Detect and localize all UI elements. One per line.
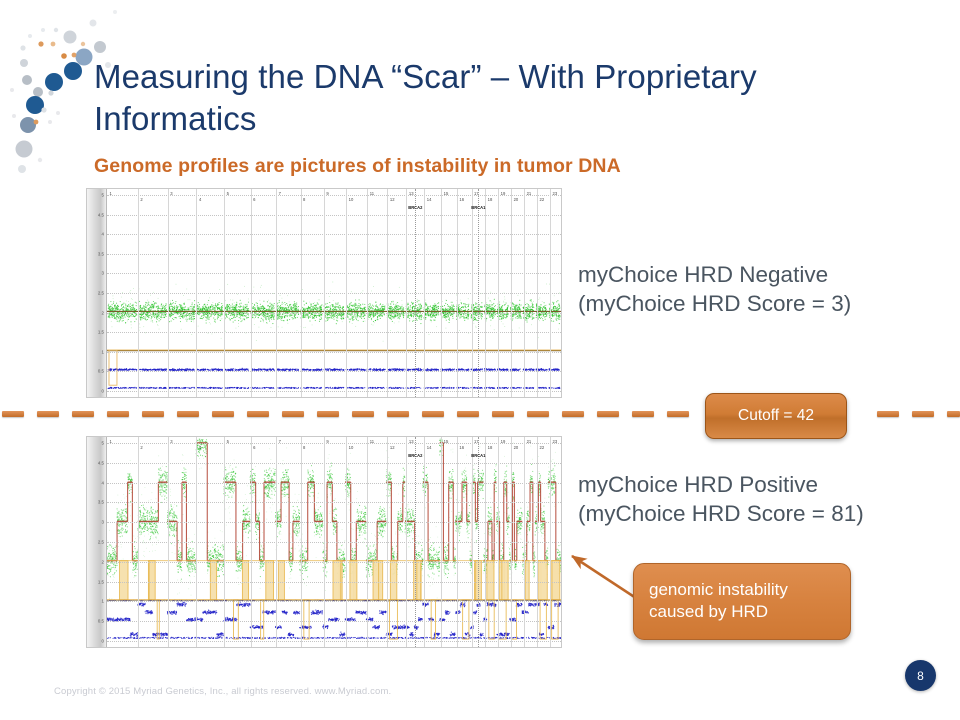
cutoff-badge[interactable]: Cutoff = 42 bbox=[705, 393, 847, 439]
y-axis-tick: 1 bbox=[102, 599, 104, 604]
gridline-chromosome-boundary bbox=[498, 189, 499, 397]
gridline-horizontal bbox=[107, 443, 561, 444]
gridline-chromosome-boundary bbox=[301, 437, 302, 647]
gridline-horizontal bbox=[107, 483, 561, 484]
y-axis-bottom: 54.543.532.521.510.50 bbox=[87, 437, 106, 647]
y-axis-top: 54.543.532.521.510.50 bbox=[87, 189, 106, 397]
chromosome-label: 19 bbox=[501, 191, 506, 196]
y-axis-tick: 5 bbox=[102, 193, 104, 198]
gridline-chromosome-boundary bbox=[224, 189, 225, 397]
gridline-chromosome-boundary bbox=[168, 437, 169, 647]
chromosome-label: 12 bbox=[390, 445, 395, 450]
cutoff-dash bbox=[492, 411, 514, 417]
y-axis-tick: 0.5 bbox=[98, 619, 104, 624]
cutoff-dash bbox=[667, 411, 689, 417]
cutoff-dash bbox=[912, 411, 934, 417]
chromosome-label: 1 bbox=[110, 439, 112, 444]
page-number-label: 8 bbox=[917, 669, 924, 683]
plot-area-top: 1234567891011121314151617181920212223BRC… bbox=[107, 189, 561, 397]
gridline-chromosome-boundary bbox=[524, 189, 525, 397]
cutoff-dash bbox=[597, 411, 619, 417]
y-axis-tick: 0 bbox=[102, 639, 104, 644]
chromosome-label: 1 bbox=[110, 191, 112, 196]
gridline-chromosome-boundary bbox=[251, 437, 252, 647]
caption-hrd-positive-line2: (myChoice HRD Score = 81) bbox=[578, 499, 938, 528]
chromosome-label: 13 bbox=[409, 191, 414, 196]
gridline-chromosome-boundary bbox=[537, 437, 538, 647]
cutoff-dash bbox=[212, 411, 234, 417]
slide: Measuring the DNA “Scar” – With Propriet… bbox=[0, 0, 960, 720]
brca-marker-line bbox=[478, 189, 479, 397]
brca-gene-label: BRCA2 bbox=[408, 453, 422, 458]
chromosome-label: 7 bbox=[279, 439, 281, 444]
gridline-chromosome-boundary bbox=[485, 437, 486, 647]
gridline-chromosome-boundary bbox=[224, 437, 225, 647]
gridline-chromosome-boundary bbox=[457, 189, 458, 397]
chromosome-label: 2 bbox=[140, 445, 142, 450]
gridline-chromosome-boundary bbox=[276, 189, 277, 397]
y-axis-tick: 5 bbox=[102, 441, 104, 446]
gridline-horizontal bbox=[107, 371, 561, 372]
callout-line1: genomic instability bbox=[649, 579, 850, 601]
y-axis-tick: 4.5 bbox=[98, 212, 104, 217]
y-axis-tick: 3.5 bbox=[98, 500, 104, 505]
copyright-footer: Copyright © 2015 Myriad Genetics, Inc., … bbox=[54, 686, 391, 697]
gridline-horizontal bbox=[107, 332, 561, 333]
cutoff-dash bbox=[72, 411, 94, 417]
cutoff-dash bbox=[562, 411, 584, 417]
gridline-chromosome-boundary bbox=[196, 189, 197, 397]
page-number-badge: 8 bbox=[905, 660, 936, 691]
gridline-chromosome-boundary bbox=[524, 437, 525, 647]
y-axis-tick: 4 bbox=[102, 232, 104, 237]
y-axis-tick: 2.5 bbox=[98, 540, 104, 545]
chromosome-label: 6 bbox=[253, 197, 255, 202]
chromosome-label: 12 bbox=[390, 197, 395, 202]
y-axis-tick: 4 bbox=[102, 480, 104, 485]
gridline-chromosome-boundary bbox=[537, 189, 538, 397]
gridline-chromosome-boundary bbox=[387, 437, 388, 647]
gridline-chromosome-boundary bbox=[424, 437, 425, 647]
chromosome-label: 20 bbox=[514, 197, 519, 202]
chromosome-label: 14 bbox=[427, 197, 432, 202]
y-axis-tick: 3.5 bbox=[98, 251, 104, 256]
gridline-chromosome-boundary bbox=[301, 189, 302, 397]
cutoff-dash bbox=[282, 411, 304, 417]
gridline-chromosome-boundary bbox=[276, 437, 277, 647]
gridline-chromosome-boundary bbox=[511, 437, 512, 647]
gridline-chromosome-boundary bbox=[550, 189, 551, 397]
gridline-horizontal bbox=[107, 254, 561, 255]
chromosome-label: 22 bbox=[540, 445, 545, 450]
gridline-chromosome-boundary bbox=[196, 437, 197, 647]
gridline-chromosome-boundary bbox=[168, 189, 169, 397]
chromosome-label: 20 bbox=[514, 445, 519, 450]
genome-profile-hrd-negative: 54.543.532.521.510.50 123456789101112131… bbox=[86, 188, 562, 398]
gridline-chromosome-boundary bbox=[485, 189, 486, 397]
chromosome-label: 8 bbox=[303, 445, 305, 450]
gridline-horizontal bbox=[107, 313, 561, 314]
chromosome-label: 19 bbox=[501, 439, 506, 444]
cutoff-dash bbox=[947, 411, 960, 417]
gridline-chromosome-boundary bbox=[324, 189, 325, 397]
chromosome-label: 14 bbox=[427, 445, 432, 450]
cutoff-dash bbox=[527, 411, 549, 417]
gridline-chromosome-boundary bbox=[511, 189, 512, 397]
y-axis-tick: 1.5 bbox=[98, 330, 104, 335]
gridline-chromosome-boundary bbox=[424, 189, 425, 397]
cutoff-dash bbox=[107, 411, 129, 417]
chromosome-label: 21 bbox=[527, 439, 532, 444]
caption-hrd-negative-line1: myChoice HRD Negative bbox=[578, 260, 938, 289]
gridline-chromosome-boundary bbox=[324, 437, 325, 647]
gridline-horizontal bbox=[107, 234, 561, 235]
chromosome-label: 16 bbox=[459, 445, 464, 450]
gridline-horizontal bbox=[107, 562, 561, 563]
gridline-horizontal bbox=[107, 601, 561, 602]
chromosome-label: 15 bbox=[444, 439, 449, 444]
chromosome-label: 10 bbox=[349, 445, 354, 450]
gridline-horizontal bbox=[107, 215, 561, 216]
cutoff-dash bbox=[142, 411, 164, 417]
chromosome-label: 4 bbox=[199, 197, 201, 202]
caption-hrd-positive: myChoice HRD Positive (myChoice HRD Scor… bbox=[578, 470, 938, 528]
cutoff-dash bbox=[317, 411, 339, 417]
gridline-horizontal bbox=[107, 542, 561, 543]
cutoff-dash bbox=[2, 411, 24, 417]
cutoff-badge-label: Cutoff = 42 bbox=[738, 407, 814, 425]
caption-hrd-negative-line2: (myChoice HRD Score = 3) bbox=[578, 289, 938, 318]
chromosome-label: 11 bbox=[370, 191, 374, 196]
chromosome-label: 9 bbox=[326, 191, 328, 196]
gridline-horizontal bbox=[107, 352, 561, 353]
gridline-chromosome-boundary bbox=[550, 437, 551, 647]
chromosome-label: 9 bbox=[326, 439, 328, 444]
page-title: Measuring the DNA “Scar” – With Propriet… bbox=[94, 56, 894, 140]
callout-genomic-instability[interactable]: genomic instability caused by HRD bbox=[633, 563, 851, 640]
y-axis-tick: 3 bbox=[102, 520, 104, 525]
plot-area-bottom: 1234567891011121314151617181920212223BRC… bbox=[107, 437, 561, 647]
gridline-chromosome-boundary bbox=[472, 437, 473, 647]
gridline-horizontal bbox=[107, 502, 561, 503]
cutoff-dash bbox=[352, 411, 374, 417]
callout-line2: caused by HRD bbox=[649, 601, 850, 623]
chromosome-label: 8 bbox=[303, 197, 305, 202]
chromosome-label: 4 bbox=[199, 445, 201, 450]
page-subtitle: Genome profiles are pictures of instabil… bbox=[94, 155, 914, 178]
gridline-chromosome-boundary bbox=[367, 189, 368, 397]
y-axis-tick: 2 bbox=[102, 310, 104, 315]
gridline-chromosome-boundary bbox=[387, 189, 388, 397]
gridline-horizontal bbox=[107, 391, 561, 392]
chromosome-label: 22 bbox=[540, 197, 545, 202]
y-axis-tick: 1.5 bbox=[98, 579, 104, 584]
brca-marker-line bbox=[415, 437, 416, 647]
gridline-chromosome-boundary bbox=[138, 189, 139, 397]
brca-gene-label: BRCA1 bbox=[471, 205, 485, 210]
chromosome-label: 10 bbox=[349, 197, 354, 202]
chromosome-label: 18 bbox=[488, 445, 493, 450]
gridline-chromosome-boundary bbox=[367, 437, 368, 647]
chromosome-label: 23 bbox=[553, 191, 558, 196]
gridline-chromosome-boundary bbox=[441, 437, 442, 647]
gridline-horizontal bbox=[107, 621, 561, 622]
chromosome-label: 3 bbox=[170, 439, 172, 444]
cutoff-dash bbox=[37, 411, 59, 417]
chromosome-label: 18 bbox=[488, 197, 493, 202]
gridline-chromosome-boundary bbox=[406, 189, 407, 397]
gridline-horizontal bbox=[107, 641, 561, 642]
cutoff-dash bbox=[247, 411, 269, 417]
cutoff-dash bbox=[387, 411, 409, 417]
gridline-chromosome-boundary bbox=[472, 189, 473, 397]
y-axis-tick: 1 bbox=[102, 349, 104, 354]
chromosome-label: 11 bbox=[370, 439, 374, 444]
cutoff-dash bbox=[457, 411, 479, 417]
gridline-chromosome-boundary bbox=[346, 437, 347, 647]
chromosome-label: 21 bbox=[527, 191, 532, 196]
chromosome-label: 5 bbox=[227, 191, 229, 196]
gridline-horizontal bbox=[107, 582, 561, 583]
brca-gene-label: BRCA2 bbox=[408, 205, 422, 210]
chromosome-label: 16 bbox=[459, 197, 464, 202]
chromosome-label: 3 bbox=[170, 191, 172, 196]
chromosome-label: 2 bbox=[140, 197, 142, 202]
chromosome-label: 6 bbox=[253, 445, 255, 450]
y-axis-tick: 3 bbox=[102, 271, 104, 276]
gridline-horizontal bbox=[107, 195, 561, 196]
caption-hrd-positive-line1: myChoice HRD Positive bbox=[578, 470, 938, 499]
gridline-horizontal bbox=[107, 522, 561, 523]
cutoff-dash bbox=[177, 411, 199, 417]
chromosome-label: 7 bbox=[279, 191, 281, 196]
chromosome-label: 23 bbox=[553, 439, 558, 444]
chromosome-label: 15 bbox=[444, 191, 449, 196]
gridline-horizontal bbox=[107, 293, 561, 294]
cutoff-dash bbox=[877, 411, 899, 417]
gridline-chromosome-boundary bbox=[251, 189, 252, 397]
brca-marker-line bbox=[415, 189, 416, 397]
y-axis-tick: 0 bbox=[102, 389, 104, 394]
y-axis-tick: 2.5 bbox=[98, 291, 104, 296]
y-axis-tick: 2 bbox=[102, 559, 104, 564]
cutoff-dash bbox=[422, 411, 444, 417]
brca-marker-line bbox=[478, 437, 479, 647]
y-axis-tick: 0.5 bbox=[98, 369, 104, 374]
caption-hrd-negative: myChoice HRD Negative (myChoice HRD Scor… bbox=[578, 260, 938, 318]
chromosome-label: 5 bbox=[227, 439, 229, 444]
gridline-chromosome-boundary bbox=[138, 437, 139, 647]
gridline-chromosome-boundary bbox=[441, 189, 442, 397]
chromosome-label: 13 bbox=[409, 439, 414, 444]
gridline-chromosome-boundary bbox=[498, 437, 499, 647]
gridline-chromosome-boundary bbox=[457, 437, 458, 647]
gridline-horizontal bbox=[107, 273, 561, 274]
gridline-chromosome-boundary bbox=[346, 189, 347, 397]
gridline-chromosome-boundary bbox=[406, 437, 407, 647]
genome-profile-hrd-positive: 54.543.532.521.510.50 123456789101112131… bbox=[86, 436, 562, 648]
y-axis-tick: 4.5 bbox=[98, 460, 104, 465]
brca-gene-label: BRCA1 bbox=[471, 453, 485, 458]
gridline-horizontal bbox=[107, 463, 561, 464]
cutoff-dash bbox=[632, 411, 654, 417]
